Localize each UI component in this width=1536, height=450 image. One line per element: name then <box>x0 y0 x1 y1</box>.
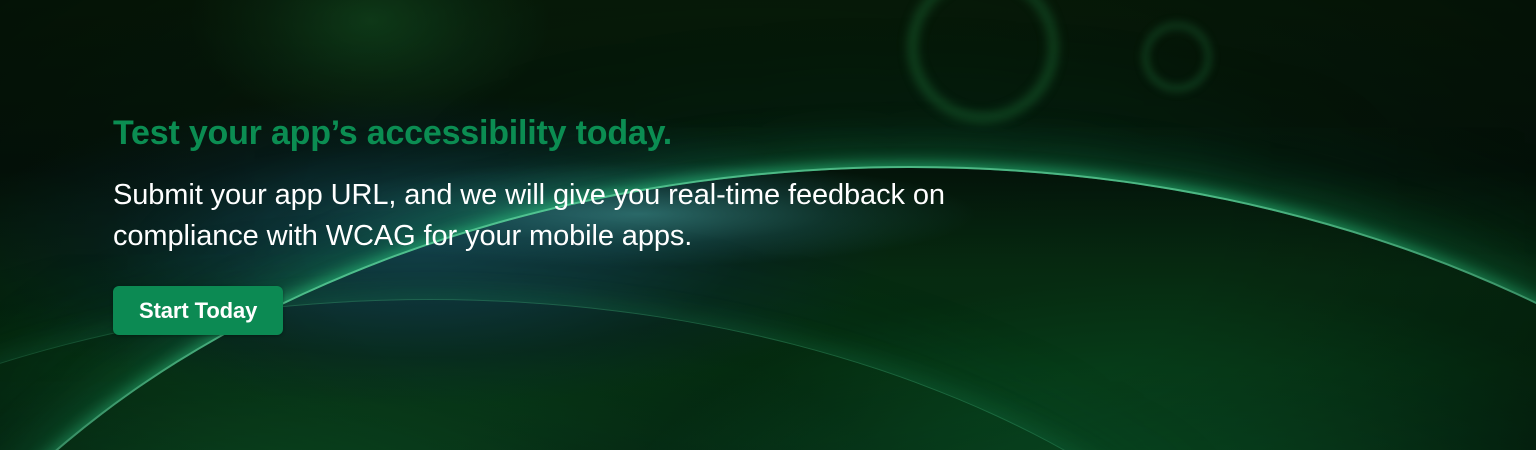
banner-content: Test your app’s accessibility today. Sub… <box>0 0 1163 335</box>
cta-banner: Test your app’s accessibility today. Sub… <box>0 0 1536 450</box>
start-today-button[interactable]: Start Today <box>113 286 283 335</box>
banner-headline: Test your app’s accessibility today. <box>113 113 1163 153</box>
banner-subcopy: Submit your app URL, and we will give yo… <box>113 175 1093 257</box>
